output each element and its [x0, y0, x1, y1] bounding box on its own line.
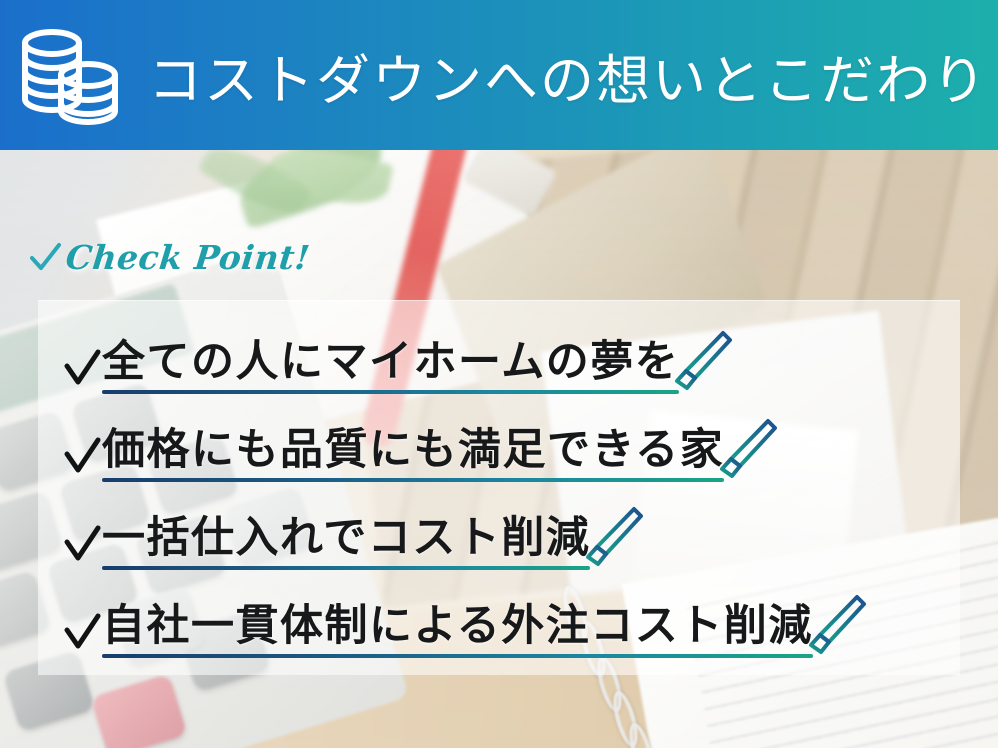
- list-item-underline: [102, 390, 679, 394]
- page-title: コストダウンへの想いとこだわり: [148, 36, 988, 115]
- poster-canvas: コストダウンへの想いとこだわり Check Point! 全ての人にマイホームの…: [0, 0, 998, 748]
- check-icon: [62, 610, 102, 654]
- list-item-label: 一括仕入れでコスト削減: [102, 516, 590, 561]
- list-item-body: 価格にも品質にも満足できる家: [102, 428, 724, 486]
- check-icon: [62, 346, 102, 390]
- highlighter-pen-icon: [584, 502, 646, 572]
- list-item-body: 一括仕入れでコスト削減: [102, 516, 590, 574]
- check-icon: [28, 241, 62, 275]
- highlighter-pen-icon: [718, 414, 780, 484]
- checkpoint-label: Check Point!: [64, 238, 312, 277]
- check-icon: [62, 522, 102, 566]
- list-item-body: 全ての人にマイホームの夢を: [102, 340, 679, 398]
- list-item-label: 自社一貫体制による外注コスト削減: [102, 604, 813, 649]
- list-item-body: 自社一貫体制による外注コスト削減: [102, 604, 813, 662]
- list-item-label: 価格にも品質にも満足できる家: [102, 428, 724, 473]
- highlighter-pen-icon: [673, 326, 735, 396]
- checkpoint-heading: Check Point!: [28, 238, 310, 277]
- list-item[interactable]: 自社一貫体制による外注コスト削減: [62, 574, 942, 662]
- list-item-underline: [102, 478, 724, 482]
- coin-stack-icon: [14, 25, 126, 125]
- list-item[interactable]: 一括仕入れでコスト削減: [62, 486, 942, 574]
- checklist: 全ての人にマイホームの夢を 価: [62, 310, 942, 662]
- list-item[interactable]: 全ての人にマイホームの夢を: [62, 310, 942, 398]
- list-item-underline: [102, 566, 590, 570]
- header-bar: コストダウンへの想いとこだわり: [0, 0, 998, 150]
- list-item[interactable]: 価格にも品質にも満足できる家: [62, 398, 942, 486]
- highlighter-pen-icon: [807, 590, 869, 660]
- list-item-underline: [102, 654, 813, 658]
- check-icon: [62, 434, 102, 478]
- list-item-label: 全ての人にマイホームの夢を: [102, 340, 679, 385]
